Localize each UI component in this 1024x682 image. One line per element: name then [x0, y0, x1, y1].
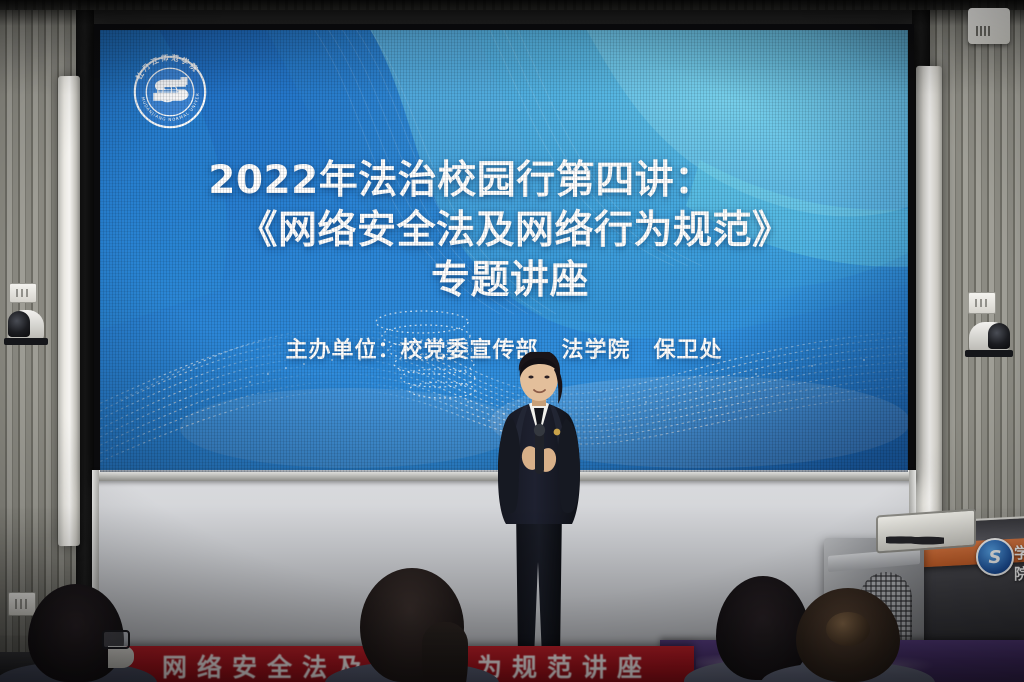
slide-title-line-2: 《网络安全法及网络行为规范》 [100, 206, 908, 256]
ponytail [422, 622, 468, 682]
podium-logo-emblem: S [976, 538, 1014, 576]
power-outlet-left[interactable] [9, 283, 37, 303]
ptz-camera-right-icon [965, 315, 1013, 357]
slide-title-line-1: 2022年法治校园行第四讲： [100, 156, 908, 206]
face-mask-icon [108, 646, 134, 668]
podium-logo-monogram: S [978, 540, 1012, 574]
power-outlet-right[interactable] [968, 292, 996, 314]
slide-text-block: 2022年法治校园行第四讲： 《网络安全法及网络行为规范》 专题讲座 主办单位：… [100, 156, 908, 364]
glasses-icon [102, 630, 130, 649]
av-cabinet-top [828, 548, 920, 572]
wall-control-panel[interactable] [968, 8, 1010, 44]
slide-title-line-3: 专题讲座 [100, 256, 908, 306]
presenter-speaker [480, 352, 598, 668]
hair-bun [826, 612, 870, 646]
lecture-hall-scene: 牡丹江师范学院 MUDANJIANG NORMAL UNIVERSITY 202… [0, 0, 1024, 682]
audience-member-front-left [28, 584, 124, 682]
av-cables [886, 534, 944, 546]
ceiling-strip [0, 0, 1024, 10]
ptz-camera-left-icon [4, 305, 48, 345]
podium-side-text: 学院 [1014, 542, 1024, 584]
audience-member-front-right [796, 588, 900, 682]
audience-member-left-center [360, 568, 464, 682]
av-monitor-screen[interactable] [876, 509, 976, 554]
speaker-column-left [58, 76, 80, 546]
speaker-column-right [916, 66, 942, 536]
university-logo: 牡丹江师范学院 MUDANJIANG NORMAL UNIVERSITY [126, 48, 214, 136]
